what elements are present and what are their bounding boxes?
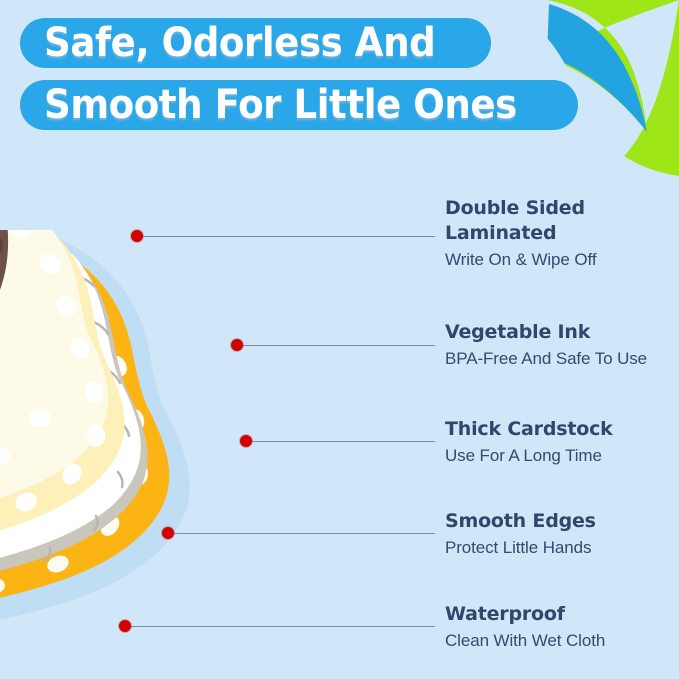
callout-title-double-sided-laminated: Double Sided [445, 196, 596, 221]
callout-subtitle-double-sided-laminated: Write On & Wipe Off [445, 248, 596, 272]
callout-title-smooth-edges: Smooth Edges [445, 509, 596, 534]
callout-smooth-edges: Smooth EdgesProtect Little Hands [445, 509, 596, 560]
callout-subtitle-waterproof: Clean With Wet Cloth [445, 629, 605, 653]
hotspot-dot-thick-cardstock[interactable] [240, 435, 252, 447]
hotspot-dot-vegetable-ink[interactable] [231, 339, 243, 351]
hotspot-dot-waterproof[interactable] [119, 620, 131, 632]
hotspot-dot-double-sided-laminated[interactable] [131, 230, 143, 242]
leader-line-smooth-edges [174, 533, 435, 534]
callout-subtitle-vegetable-ink: BPA-Free And Safe To Use [445, 347, 647, 371]
callout-subtitle-thick-cardstock: Use For A Long Time [445, 444, 613, 468]
callout-title-vegetable-ink: Vegetable Ink [445, 320, 647, 345]
callout-waterproof: WaterproofClean With Wet Cloth [445, 602, 605, 653]
leader-line-double-sided-laminated [143, 236, 435, 237]
headline-banner-line-1: Safe, Odorless And [20, 18, 491, 68]
callout-vegetable-ink: Vegetable InkBPA-Free And Safe To Use [445, 320, 647, 371]
headline-line-2: Smooth For Little Ones [44, 80, 517, 130]
callout-title-waterproof: Waterproof [445, 602, 605, 627]
callout-title-thick-cardstock: Thick Cardstock [445, 417, 613, 442]
product-feature-infographic: Safe, Odorless And Smooth For Little One… [0, 0, 679, 679]
hotspot-dot-smooth-edges[interactable] [162, 527, 174, 539]
leader-line-vegetable-ink [243, 345, 435, 346]
leader-line-waterproof [131, 626, 435, 627]
headline-line-1: Safe, Odorless And [44, 18, 435, 68]
flashcard-layers-svg [0, 230, 302, 660]
callout-subtitle-smooth-edges: Protect Little Hands [445, 536, 596, 560]
headline-block: Safe, Odorless And Smooth For Little One… [20, 18, 679, 142]
callout-title-line2-double-sided-laminated: Laminated [445, 221, 596, 246]
leader-line-thick-cardstock [252, 441, 435, 442]
product-illustration [0, 230, 302, 660]
callout-thick-cardstock: Thick CardstockUse For A Long Time [445, 417, 613, 468]
callout-double-sided-laminated: Double SidedLaminatedWrite On & Wipe Off [445, 196, 596, 272]
headline-banner-line-2: Smooth For Little Ones [20, 80, 578, 130]
